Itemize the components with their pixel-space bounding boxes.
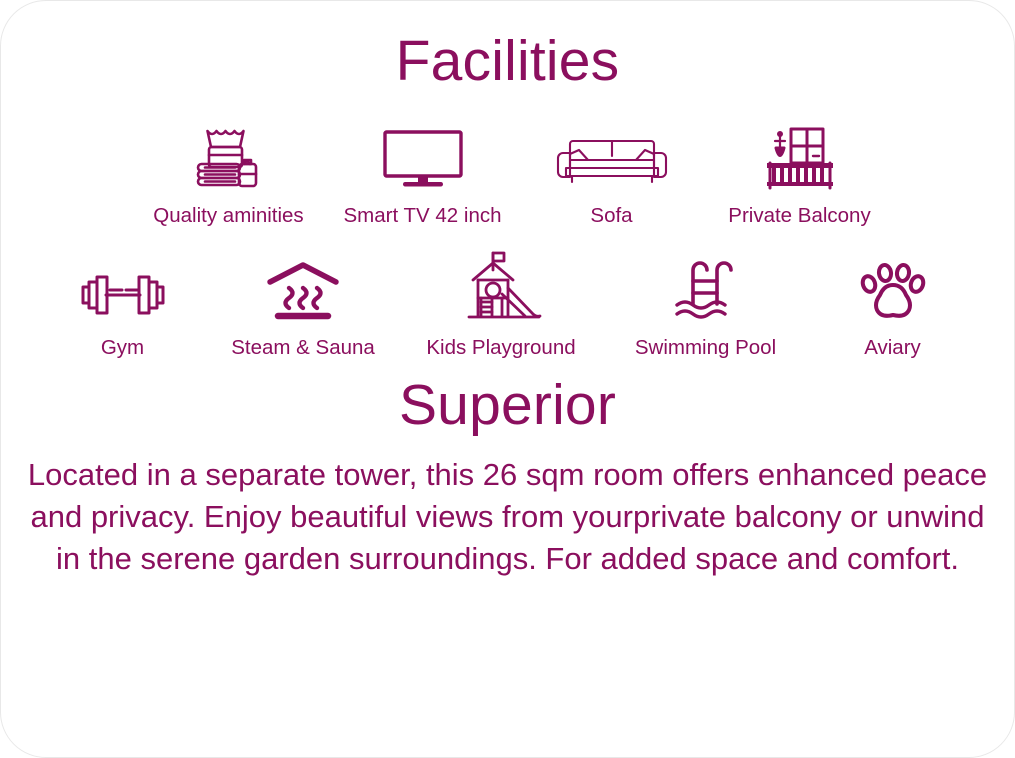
facility-label: Private Balcony <box>728 205 870 228</box>
facility-label: Smart TV 42 inch <box>344 205 502 228</box>
facility-item-steam-sauna: Steam & Sauna <box>207 250 400 360</box>
facilities-card: Facilities <box>0 0 1015 758</box>
sofa-icon <box>554 118 670 190</box>
facility-item-kids-playground: Kids Playground <box>400 250 603 360</box>
sauna-steam-icon <box>264 250 342 322</box>
dumbbell-icon <box>80 250 166 322</box>
room-type-heading: Superior <box>399 377 616 434</box>
facility-item-swimming-pool: Swimming Pool <box>603 250 809 360</box>
facility-label: Steam & Sauna <box>231 337 375 360</box>
pool-ladder-icon <box>671 250 741 322</box>
facility-item-smart-tv: Smart TV 42 inch <box>327 118 519 228</box>
television-icon <box>381 118 465 190</box>
facility-label: Swimming Pool <box>635 337 776 360</box>
facility-label: Quality aminities <box>153 205 303 228</box>
facility-label: Aviary <box>864 337 921 360</box>
facility-item-private-balcony: Private Balcony <box>705 118 895 228</box>
facility-label: Kids Playground <box>426 337 575 360</box>
facility-label: Gym <box>101 337 144 360</box>
facility-label: Sofa <box>590 205 632 228</box>
balcony-icon <box>763 118 837 190</box>
facility-item-sofa: Sofa <box>519 118 705 228</box>
paw-print-icon <box>859 250 927 322</box>
facility-item-gym: Gym <box>39 250 207 360</box>
facility-item-quality-amenities: Quality aminities <box>131 118 327 228</box>
towels-amenities-icon <box>191 118 267 190</box>
playground-slide-icon <box>459 250 543 322</box>
facilities-row-2: Gym Steam & Sauna <box>1 250 1014 360</box>
facilities-heading: Facilities <box>396 33 620 90</box>
room-description-text: Located in a separate tower, this 26 sqm… <box>28 454 988 580</box>
facilities-row-1: Quality aminities Smart TV 42 inch <box>1 118 1014 228</box>
facility-item-aviary: Aviary <box>809 250 977 360</box>
